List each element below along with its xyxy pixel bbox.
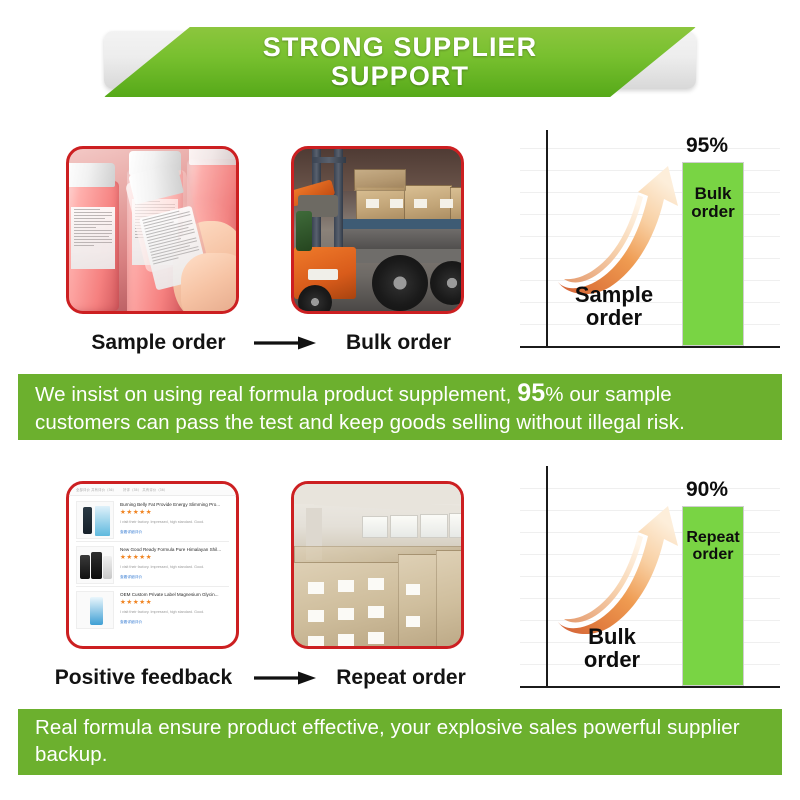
box-label bbox=[440, 199, 453, 208]
box-label bbox=[406, 584, 420, 595]
box-label bbox=[338, 608, 354, 620]
header-banner: STRONG SUPPLIER SUPPORT bbox=[104, 27, 696, 97]
chart-y-axis bbox=[546, 130, 548, 348]
box-label bbox=[308, 610, 324, 622]
truck-wheel bbox=[430, 261, 464, 305]
arrow-right-icon bbox=[251, 335, 321, 351]
chart-x-axis bbox=[520, 346, 780, 348]
window bbox=[390, 515, 418, 538]
repeat-order-photo bbox=[291, 481, 464, 649]
gridline bbox=[520, 148, 780, 149]
review-detail-link[interactable]: 查看详细评价 bbox=[120, 530, 229, 535]
review-comment: I visit their factory. Impressed, high s… bbox=[120, 565, 229, 570]
bulk-order-photo bbox=[291, 146, 464, 314]
review-title: OEM Custom Private Label Magnesium Glyci… bbox=[120, 592, 229, 598]
review-comment: I visit their factory. Impressed, high s… bbox=[120, 610, 229, 615]
review-title: Burning Belly Fat Provide Energy Slimmin… bbox=[120, 502, 229, 508]
review-comment: I visit their factory. Impressed, high s… bbox=[120, 520, 229, 525]
banner-sample-conversion: We insist on using real formula product … bbox=[18, 374, 782, 440]
box-label bbox=[308, 582, 324, 594]
box-label bbox=[406, 616, 420, 627]
review-thumbnail bbox=[76, 591, 114, 629]
row2-left-label: Positive feedback bbox=[36, 666, 251, 690]
row1-right-label: Bulk order bbox=[321, 331, 476, 355]
review-list-item: OEM Custom Private Label Magnesium Glyci… bbox=[76, 587, 229, 632]
cargo-box bbox=[354, 169, 406, 191]
chart-sample-to-bulk: Bulk order 95% Sample order bbox=[520, 130, 780, 350]
row1-left-label: Sample order bbox=[66, 331, 251, 355]
banner1-highlight: 95 bbox=[517, 379, 545, 407]
gridline bbox=[520, 488, 780, 489]
bottle-label-1 bbox=[71, 207, 115, 269]
chart-x-axis bbox=[520, 686, 780, 688]
review-meta: New Good Ready Formula Pure Himalayan Sh… bbox=[120, 546, 229, 586]
repeat-order-bar-label: Repeat order bbox=[683, 529, 743, 564]
sample-order-base-label: Sample order bbox=[554, 284, 674, 330]
review-detail-link[interactable]: 查看详细评价 bbox=[120, 575, 229, 580]
banner2-text: Real formula ensure product effective, y… bbox=[35, 715, 765, 768]
forklift-brand-label bbox=[308, 269, 338, 280]
page-title-line2: SUPPORT bbox=[331, 62, 469, 91]
review-list-item: New Good Ready Formula Pure Himalayan Sh… bbox=[76, 542, 229, 587]
review-stars: ★★★★★ bbox=[120, 555, 229, 562]
window bbox=[362, 516, 388, 538]
box-label bbox=[414, 199, 427, 208]
chart-bulk-to-repeat: Repeat order 90% Bulk order bbox=[520, 466, 780, 691]
bulk-order-base-label: Bulk order bbox=[552, 626, 672, 672]
feedback-topbar-item: 全部评价 共有评价（36） bbox=[76, 487, 116, 492]
forklift-wheel bbox=[298, 285, 332, 314]
box-label bbox=[368, 606, 384, 618]
chart-y-axis bbox=[546, 466, 548, 688]
forklift-crossbar bbox=[312, 157, 346, 163]
positive-feedback-photo: 全部评价 共有评价（36） 好评（35） 共有评价（36） Burning Be… bbox=[66, 481, 239, 649]
repeat-order-bar: Repeat order bbox=[682, 506, 744, 686]
row1-label-row: Sample order Bulk order bbox=[66, 328, 476, 358]
row2-label-row: Positive feedback Repeat order bbox=[36, 663, 486, 693]
review-meta: Burning Belly Fat Provide Energy Slimmin… bbox=[120, 501, 229, 541]
box-stack bbox=[436, 550, 464, 649]
review-stars: ★★★★★ bbox=[120, 510, 229, 517]
bottle-cap-1 bbox=[66, 163, 115, 187]
review-list-item: Burning Belly Fat Provide Energy Slimmin… bbox=[76, 497, 229, 542]
review-thumbnail bbox=[76, 546, 114, 584]
repeat-order-percent: 90% bbox=[686, 478, 728, 502]
page-title: STRONG SUPPLIER SUPPORT bbox=[104, 27, 696, 97]
banner1-text-before: We insist on using real formula product … bbox=[35, 383, 517, 406]
growth-arrow bbox=[556, 166, 686, 298]
bulk-order-percent: 95% bbox=[686, 134, 728, 158]
feedback-topbar-item: 好评（35） 共有评价（36） bbox=[123, 487, 167, 492]
sample-order-photo bbox=[66, 146, 239, 314]
truck-wheel bbox=[372, 255, 428, 311]
bulk-order-bar-label: Bulk order bbox=[683, 185, 743, 222]
review-detail-link[interactable]: 查看详细评价 bbox=[120, 620, 229, 625]
window bbox=[449, 513, 464, 538]
page-title-line1: STRONG SUPPLIER bbox=[263, 33, 538, 62]
box-label bbox=[366, 199, 379, 208]
box-label bbox=[308, 636, 324, 648]
row2-right-label: Repeat order bbox=[321, 666, 481, 690]
arrow-right-icon bbox=[251, 670, 321, 686]
review-thumbnail bbox=[76, 501, 114, 539]
box-label bbox=[338, 580, 354, 592]
banner-repeat-conversion: Real formula ensure product effective, y… bbox=[18, 709, 782, 775]
box-label bbox=[368, 632, 384, 644]
feedback-topbar: 全部评价 共有评价（36） 好评（35） 共有评价（36） bbox=[69, 484, 236, 496]
review-stars: ★★★★★ bbox=[120, 600, 229, 607]
review-title: New Good Ready Formula Pure Himalayan Sh… bbox=[120, 547, 229, 553]
hand-fingers bbox=[181, 253, 239, 314]
box-label bbox=[338, 634, 354, 646]
bottle-cap-3 bbox=[189, 146, 239, 165]
box-label bbox=[390, 199, 403, 208]
growth-arrow bbox=[556, 506, 686, 638]
review-meta: OEM Custom Private Label Magnesium Glyci… bbox=[120, 591, 229, 632]
window bbox=[420, 514, 448, 538]
bulk-order-bar: Bulk order bbox=[682, 162, 744, 346]
box-label bbox=[368, 578, 384, 590]
forklift-engine bbox=[296, 211, 312, 251]
banner1-text: We insist on using real formula product … bbox=[35, 377, 765, 436]
